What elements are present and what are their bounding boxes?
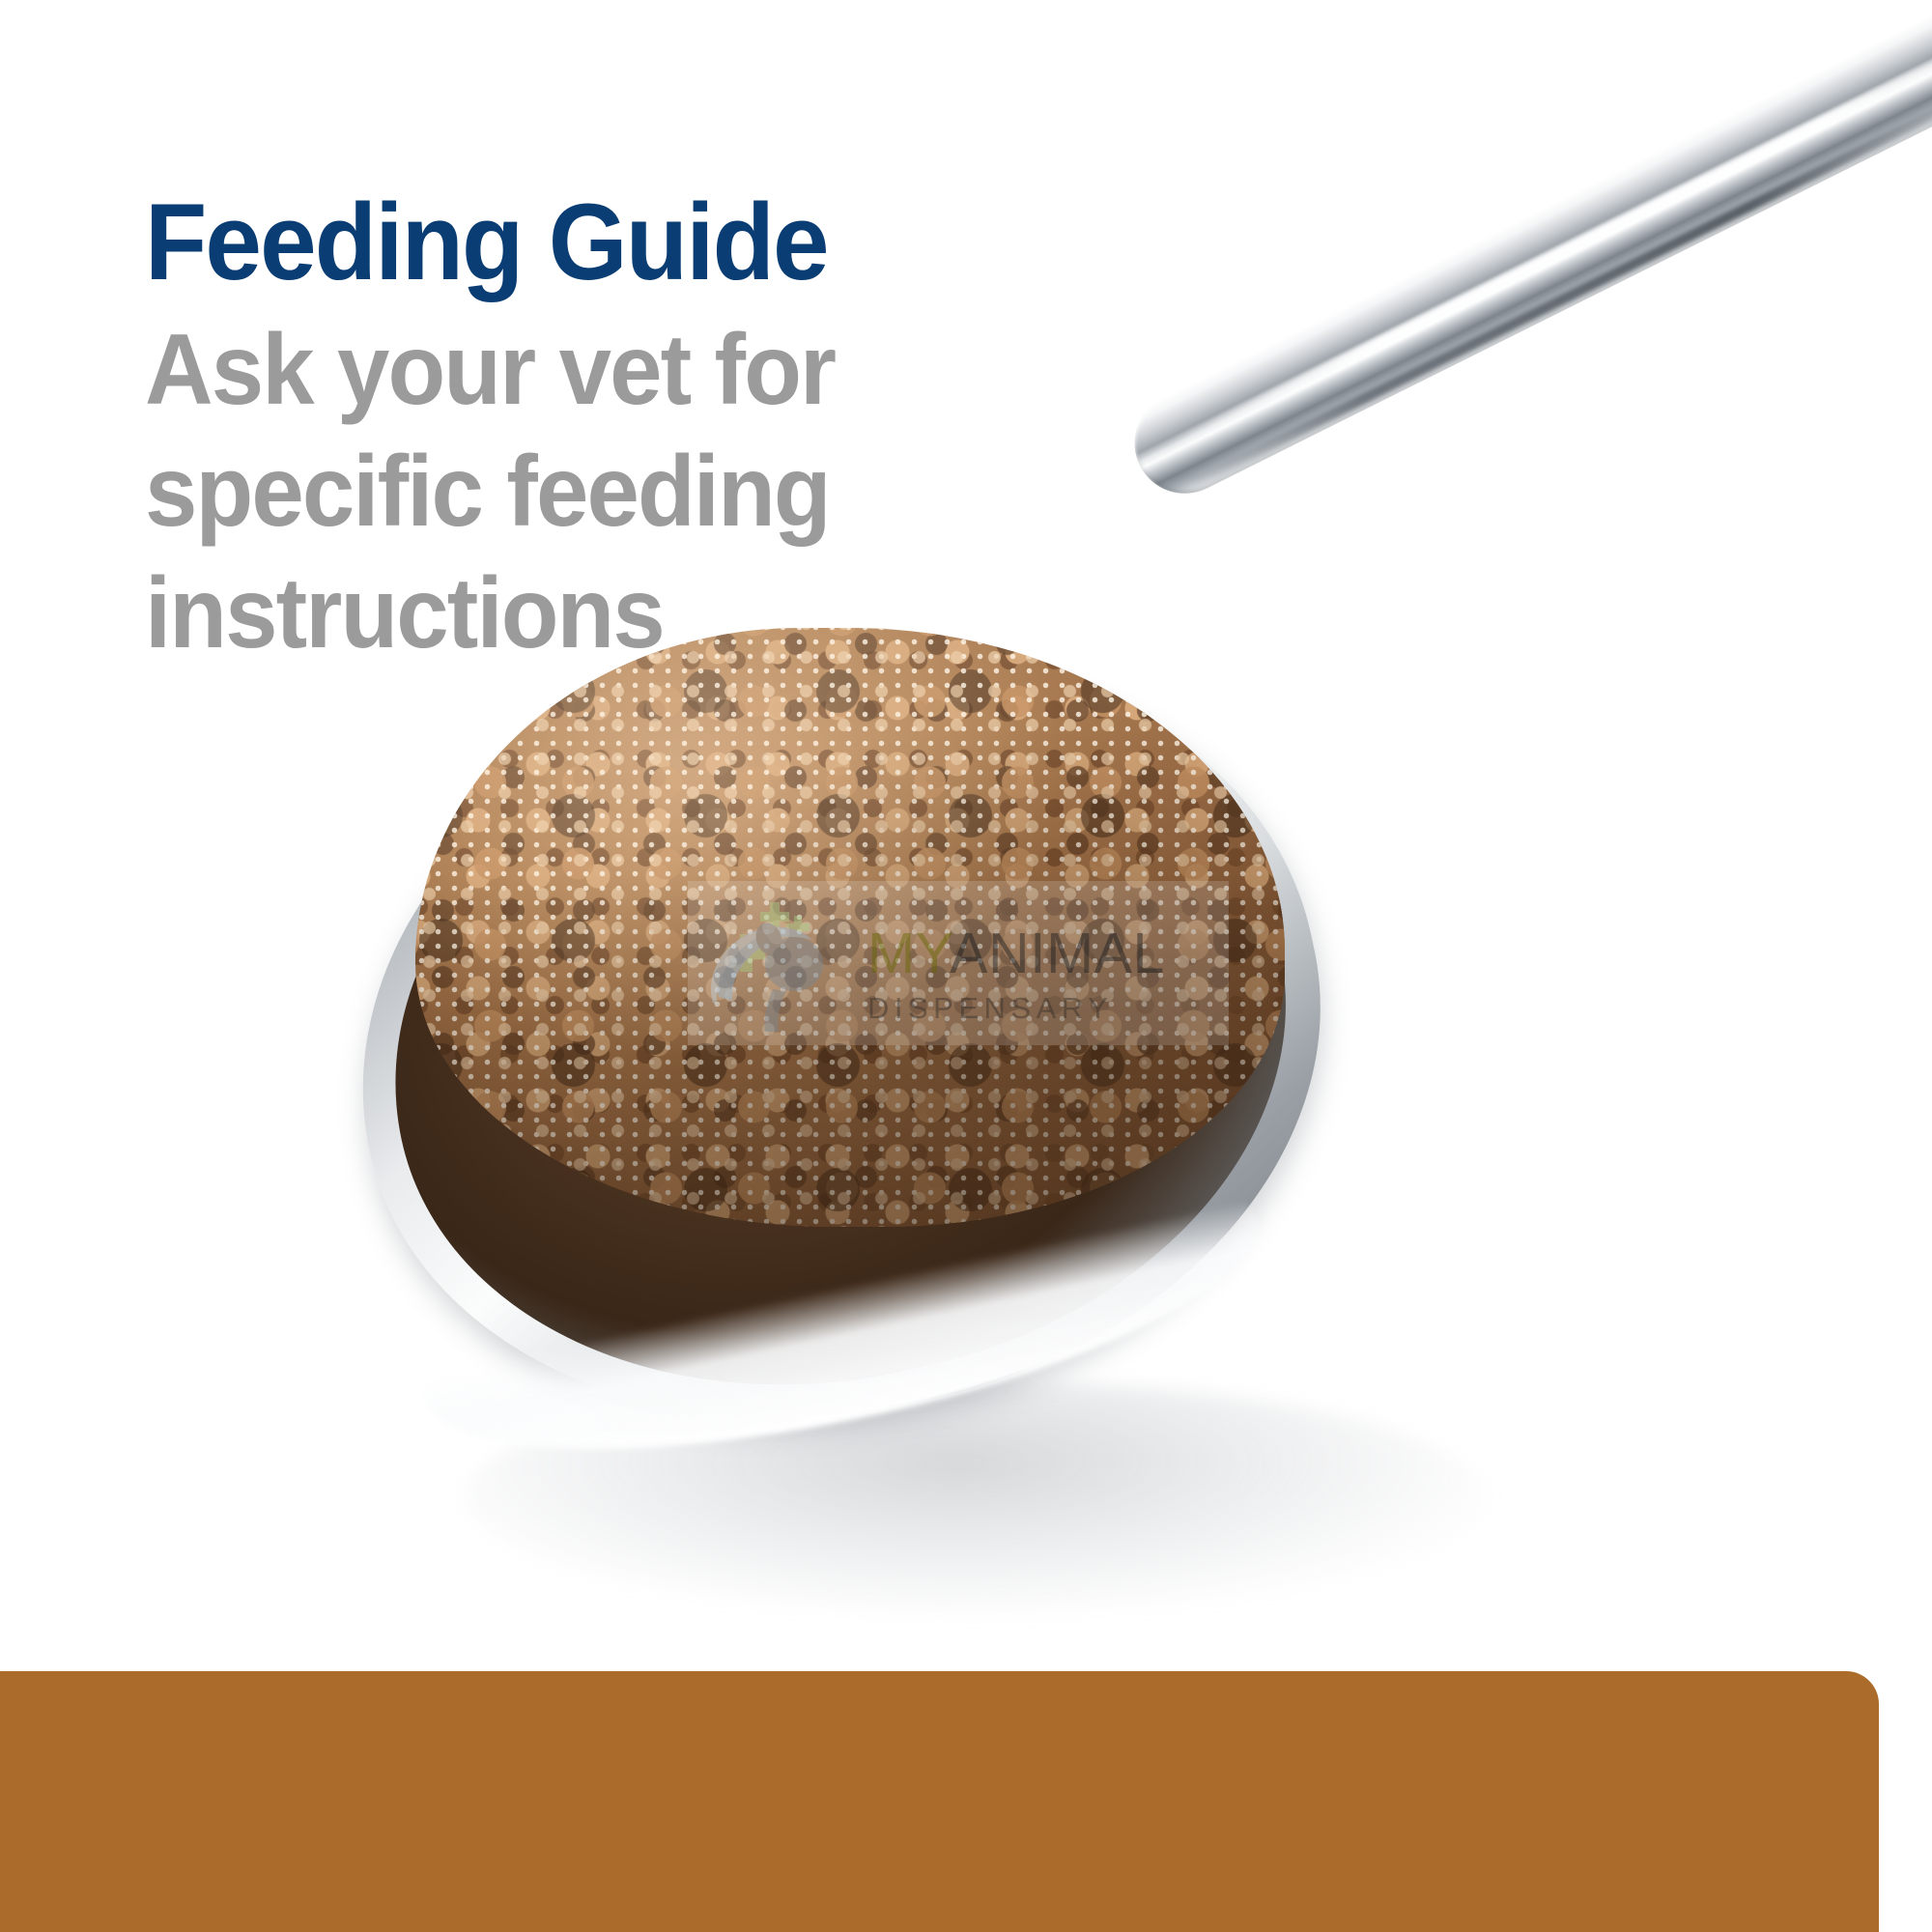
text-block: Feeding Guide Ask your vet for specific …	[145, 188, 1265, 674]
bottom-color-band	[0, 1671, 1879, 1932]
pate-food-texture	[415, 628, 1285, 1227]
page-subtitle: Ask your vet for specific feeding instru…	[145, 310, 1071, 674]
food-shading-overlay	[415, 628, 1285, 1227]
feeding-guide-card: MYANIMAL DISPENSARY Feeding Guide Ask yo…	[0, 0, 1932, 1932]
page-title: Feeding Guide	[145, 188, 1198, 297]
